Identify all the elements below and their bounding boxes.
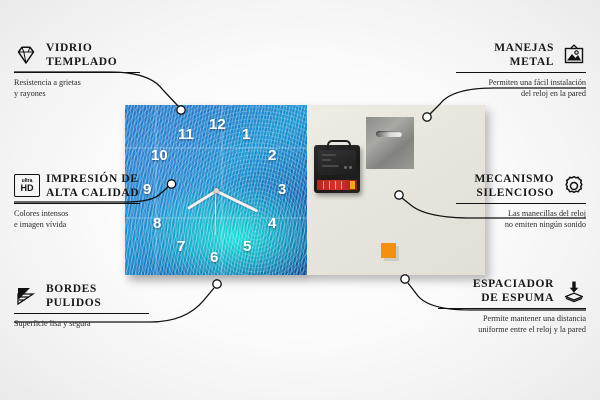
- callout-divider: [456, 203, 586, 204]
- clock-numeral-11: 11: [178, 127, 194, 142]
- clock-numeral-12: 12: [209, 117, 226, 132]
- mechanism-face: [318, 150, 356, 175]
- callout-manejas-metal: MANEJAS METAL Permiten una fácil instala…: [456, 41, 586, 100]
- clock-numeral-7: 7: [177, 239, 185, 254]
- callout-espaciador-espuma: ESPACIADOR DE ESPUMA Permite mantener un…: [438, 277, 586, 336]
- mechanism-detail: [322, 159, 331, 161]
- clock-numeral-6: 6: [210, 250, 218, 265]
- callout-title-line1: MANEJAS: [494, 41, 554, 55]
- picture-hanger-icon: [562, 43, 586, 67]
- callout-divider: [456, 72, 586, 73]
- infographic-canvas: 12 1 2 3 4 5 6 7 8 9 10 11: [0, 0, 600, 400]
- polished-edges-icon: [14, 284, 38, 308]
- callout-title-line2: ALTA CALIDAD: [46, 186, 139, 200]
- callout-sub-line1: Permiten una fácil instalación: [456, 77, 586, 88]
- callout-title-line1: VIDRIO: [46, 41, 117, 55]
- mechanism-detail: [322, 165, 339, 167]
- callout-sub-line2: y rayones: [14, 88, 140, 99]
- callout-sub-line1: Superficie lisa y segura: [14, 318, 149, 329]
- mechanism-detail: [349, 166, 352, 169]
- foam-spacer-icon: [562, 279, 586, 303]
- clock-center-hub: [214, 188, 219, 193]
- callout-sub-line2: del reloj en la pared: [456, 88, 586, 99]
- ultra-hd-icon: ultra HD: [14, 174, 38, 198]
- clock-numeral-1: 1: [242, 127, 250, 142]
- gear-icon: [562, 174, 586, 198]
- mechanism-detail: [344, 166, 347, 169]
- callout-sub-line1: Colores intensos: [14, 208, 140, 219]
- callout-sub-line2: uniforme entre el reloj y la pared: [438, 324, 586, 335]
- callout-title-line1: MECANISMO: [474, 172, 554, 186]
- clock-numeral-8: 8: [153, 216, 161, 231]
- callout-title-line1: IMPRESIÓN DE: [46, 172, 139, 186]
- callout-sub-line1: Las manecillas del reloj: [456, 208, 586, 219]
- callout-mecanismo-silencioso: MECANISMO SILENCIOSO Las manecillas del …: [456, 172, 586, 231]
- callout-sub-line2: no emiten ningún sonido: [456, 219, 586, 230]
- callout-title-line2: DE ESPUMA: [473, 291, 554, 305]
- callout-sub-line1: Resistencia a grietas: [14, 77, 140, 88]
- callout-title-line1: ESPACIADOR: [473, 277, 554, 291]
- clock-numeral-5: 5: [243, 239, 251, 254]
- callout-title-line2: METAL: [494, 55, 554, 69]
- clock-numeral-9: 9: [143, 182, 151, 197]
- clock-numeral-3: 3: [278, 182, 286, 197]
- foam-spacer-square: [381, 243, 396, 258]
- callout-divider: [438, 308, 586, 309]
- callout-vidrio-templado: VIDRIO TEMPLADO Resistencia a grietas y …: [14, 41, 140, 100]
- callout-sub-line1: Permite mantener una distancia: [438, 313, 586, 324]
- metal-hanger-plate: [366, 117, 414, 169]
- callout-title-line1: BORDES: [46, 282, 101, 296]
- callout-divider: [14, 203, 140, 204]
- callout-divider: [14, 72, 140, 73]
- diamond-icon: [14, 43, 38, 67]
- callout-impresion-alta-calidad: ultra HD IMPRESIÓN DE ALTA CALIDAD Color…: [14, 172, 140, 231]
- callout-title-line2: SILENCIOSO: [474, 186, 554, 200]
- battery-compartment: [317, 180, 357, 190]
- hanger-slot: [376, 131, 402, 137]
- callout-divider: [14, 313, 149, 314]
- product-photo-group: 12 1 2 3 4 5 6 7 8 9 10 11: [125, 105, 485, 275]
- clock-numeral-4: 4: [268, 216, 276, 231]
- clock-numeral-2: 2: [268, 148, 276, 163]
- battery-contact: [350, 181, 355, 189]
- clock-mechanism-box: [314, 145, 360, 193]
- mechanism-detail: [322, 154, 336, 156]
- callout-title-line2: PULIDOS: [46, 296, 101, 310]
- mechanism-hook: [327, 140, 351, 150]
- wall-clock-front: 12 1 2 3 4 5 6 7 8 9 10 11: [125, 105, 307, 275]
- clock-grid-line: [155, 105, 157, 275]
- hd-icon-bottom-text: HD: [21, 184, 34, 193]
- callout-title-line2: TEMPLADO: [46, 55, 117, 69]
- clock-numeral-10: 10: [151, 148, 168, 163]
- callout-bordes-pulidos: BORDES PULIDOS Superficie lisa y segura: [14, 282, 149, 329]
- callout-sub-line2: e imagen vívida: [14, 219, 140, 230]
